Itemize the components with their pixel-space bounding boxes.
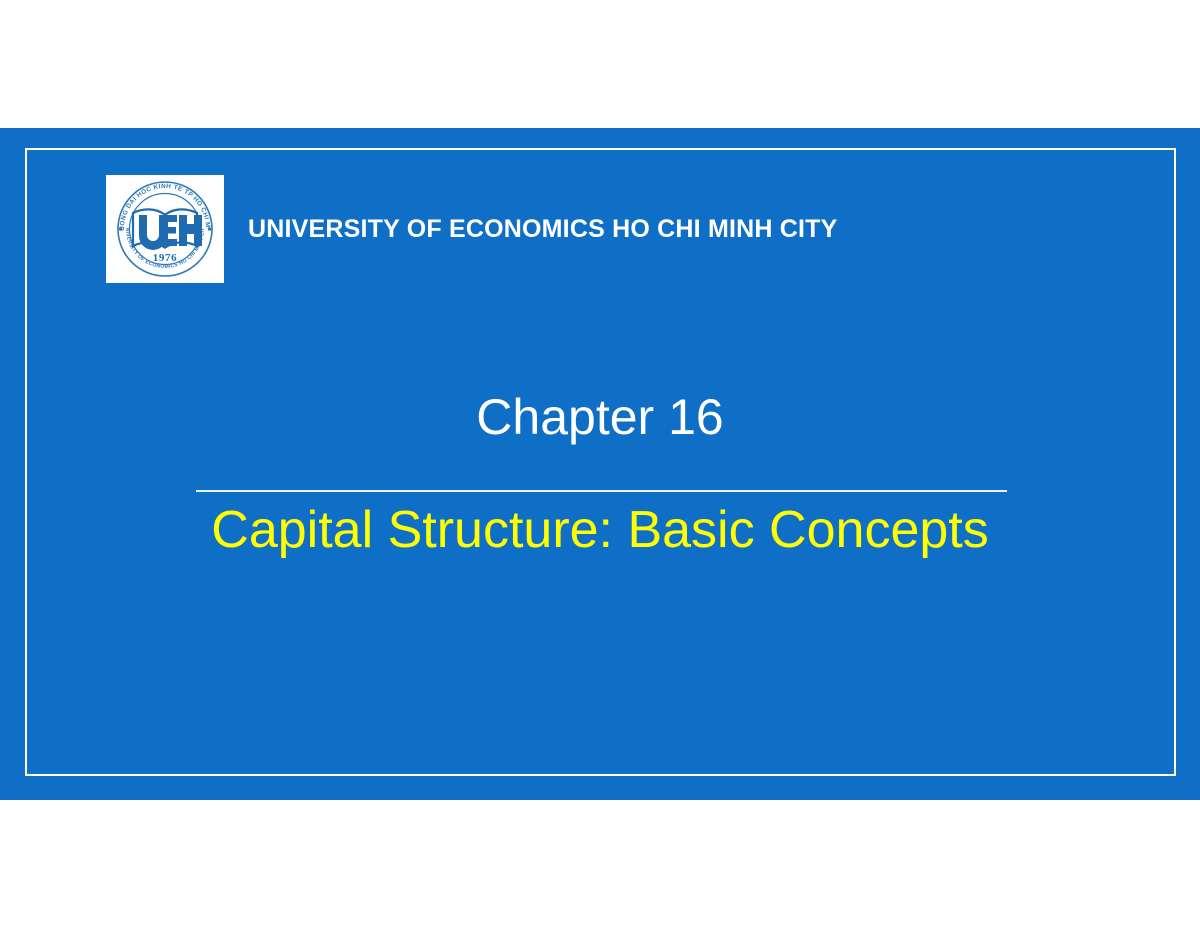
university-logo-plate: TRUONG DAI HOC KINH TE TP HO CHI MINH UN… bbox=[106, 175, 224, 283]
svg-text:1976: 1976 bbox=[153, 252, 177, 264]
title-divider-rule bbox=[196, 490, 1007, 492]
chapter-number-heading: Chapter 16 bbox=[0, 390, 1200, 445]
institution-name: UNIVERSITY OF ECONOMICS HO CHI MINH CITY bbox=[248, 217, 838, 242]
slide-canvas: TRUONG DAI HOC KINH TE TP HO CHI MINH UN… bbox=[0, 0, 1200, 927]
ueh-university-seal-logo: TRUONG DAI HOC KINH TE TP HO CHI MINH UN… bbox=[113, 177, 217, 281]
chapter-subtitle-heading: Capital Structure: Basic Concepts bbox=[0, 501, 1200, 561]
brand-header: TRUONG DAI HOC KINH TE TP HO CHI MINH UN… bbox=[106, 175, 838, 283]
title-slide: TRUONG DAI HOC KINH TE TP HO CHI MINH UN… bbox=[0, 128, 1200, 800]
